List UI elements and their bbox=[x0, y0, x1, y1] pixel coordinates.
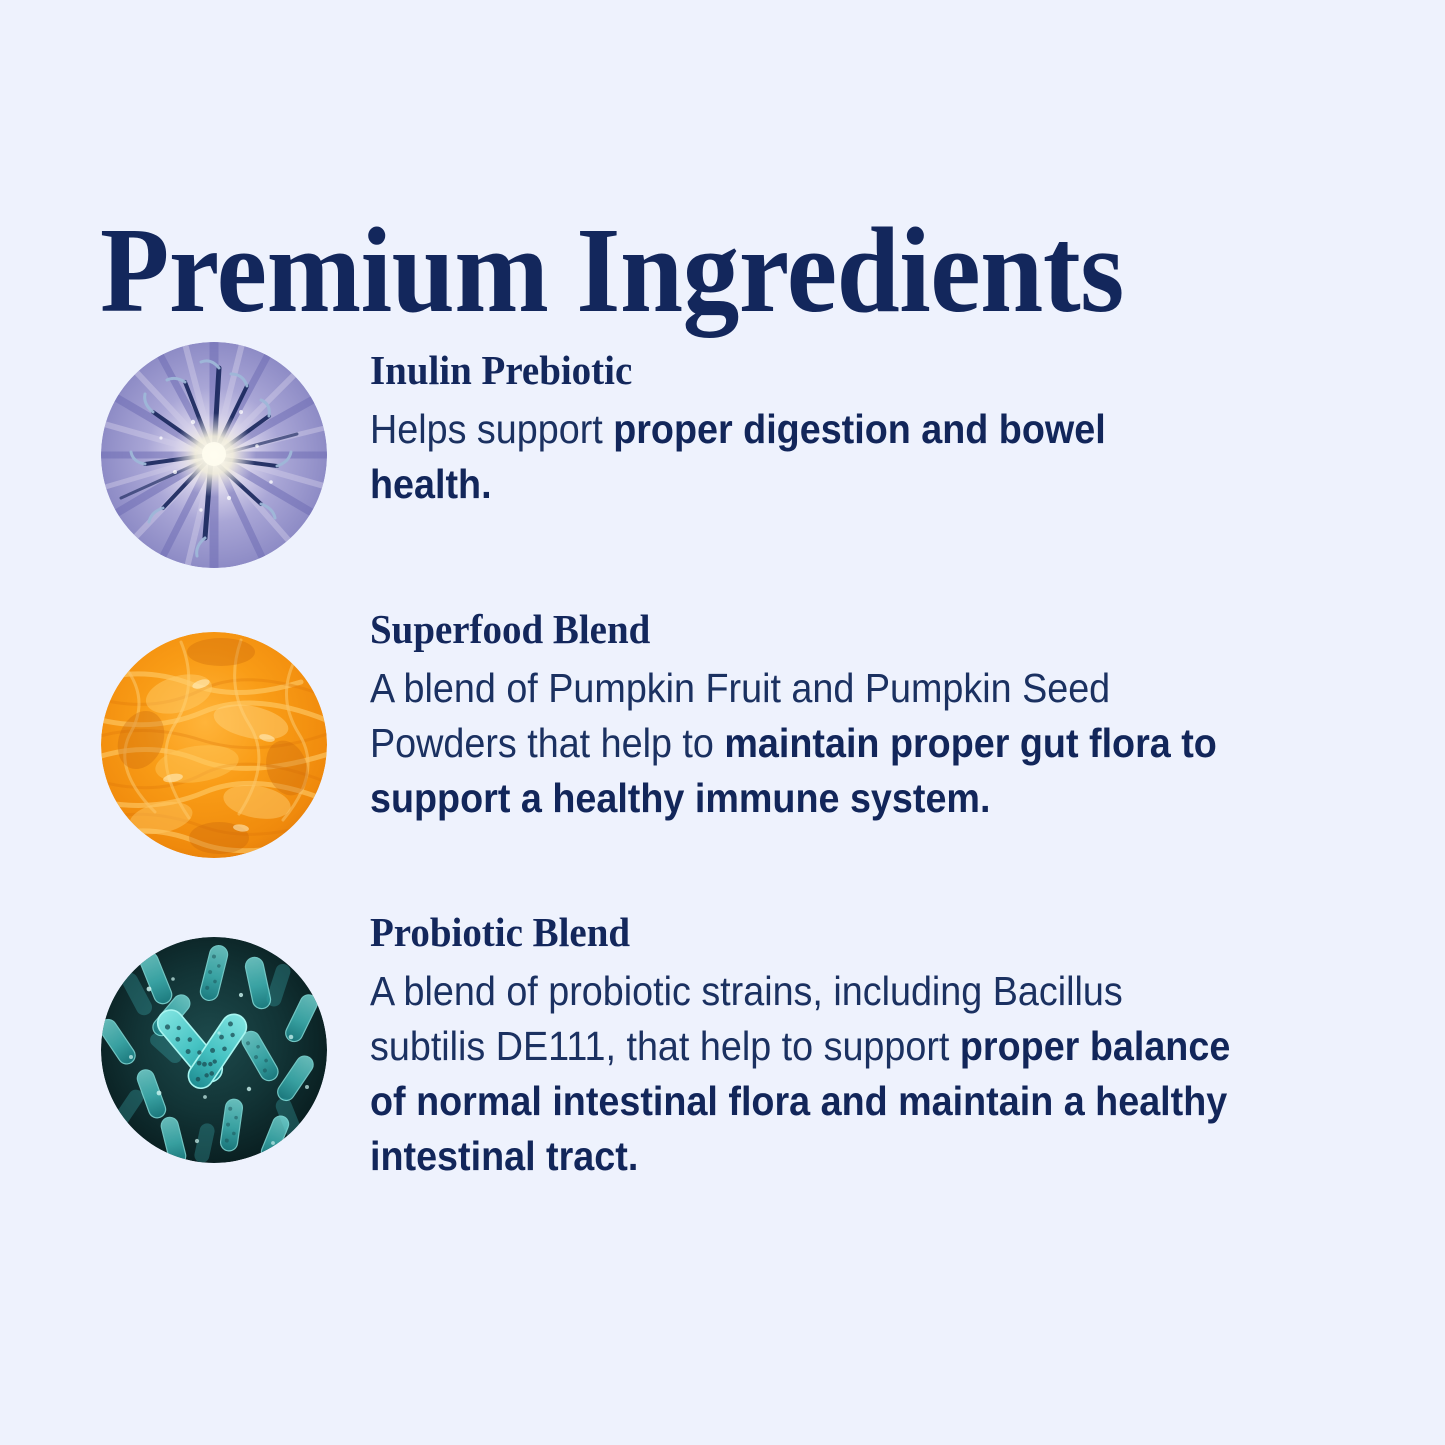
probiotic-bacteria-image bbox=[101, 937, 327, 1163]
ingredient-copy: Superfood Blend A blend of Pumpkin Fruit… bbox=[370, 609, 1310, 826]
ingredient-description: A blend of Pumpkin Fruit and Pumpkin See… bbox=[370, 661, 1235, 826]
chicory-flower-image bbox=[101, 342, 327, 568]
ingredient-description: Helps support proper digestion and bowel… bbox=[370, 402, 1235, 512]
ingredient-description: A blend of probiotic strains, including … bbox=[370, 964, 1235, 1184]
ingredient-title: Superfood Blend bbox=[370, 609, 1263, 650]
ingredient-copy: Probiotic Blend A blend of probiotic str… bbox=[370, 912, 1310, 1184]
ingredient-title: Inulin Prebiotic bbox=[370, 350, 1263, 391]
pumpkin-flesh-image bbox=[101, 632, 327, 858]
page-title: Premium Ingredients bbox=[100, 206, 1263, 335]
ingredient-copy: Inulin Prebiotic Helps support proper di… bbox=[370, 350, 1310, 512]
ingredient-title: Probiotic Blend bbox=[370, 912, 1263, 953]
description-normal-text: Helps support bbox=[370, 406, 613, 452]
premium-ingredients-panel: Premium Ingredients bbox=[0, 0, 1445, 1445]
